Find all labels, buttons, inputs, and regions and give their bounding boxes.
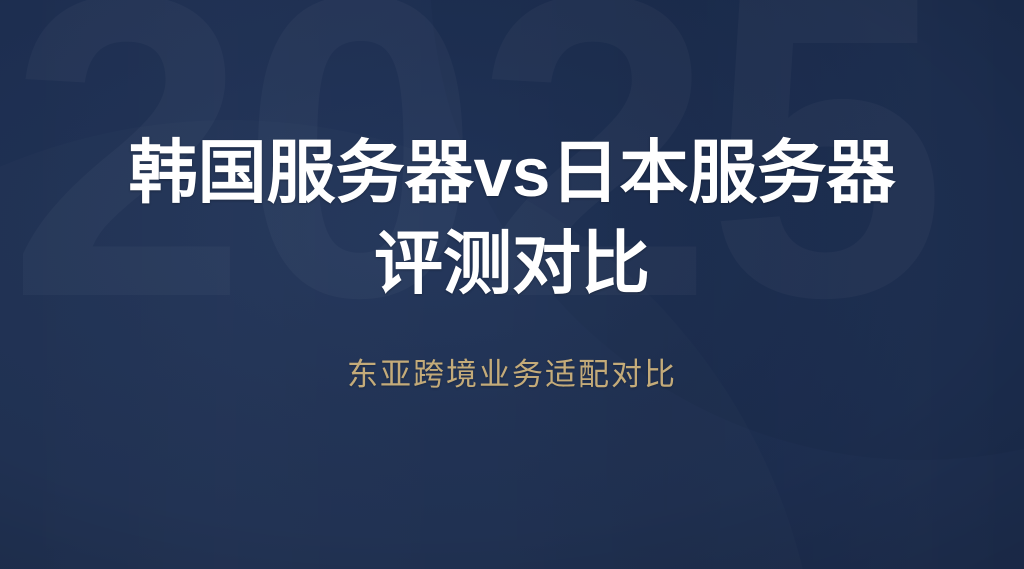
title-line-2: 评测对比 bbox=[129, 218, 896, 309]
slide-content: 韩国服务器vs日本服务器 评测对比 东亚跨境业务适配对比 bbox=[0, 0, 1024, 569]
page-title: 韩国服务器vs日本服务器 评测对比 bbox=[129, 127, 896, 309]
title-line-1: 韩国服务器vs日本服务器 bbox=[129, 127, 896, 218]
subtitle: 东亚跨境业务适配对比 bbox=[347, 355, 677, 395]
title-slide: 2025 韩国服务器vs日本服务器 评测对比 东亚跨境业务适配对比 bbox=[0, 0, 1024, 569]
